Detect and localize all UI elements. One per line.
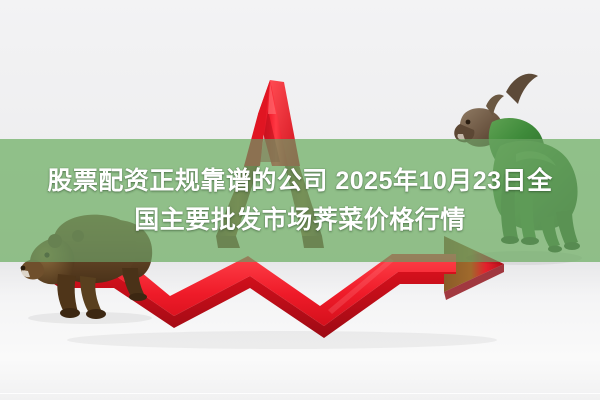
news-banner: 股票配资正规靠谱的公司 2025年10月23日全 国主要批发市场荠菜价格行情: [0, 0, 600, 400]
headline-block: 股票配资正规靠谱的公司 2025年10月23日全 国主要批发市场荠菜价格行情: [0, 139, 600, 262]
headline-line-2: 国主要批发市场荠菜价格行情: [134, 201, 466, 240]
headline-line-1: 股票配资正规靠谱的公司 2025年10月23日全: [47, 162, 552, 201]
scene-floor: [0, 262, 600, 400]
